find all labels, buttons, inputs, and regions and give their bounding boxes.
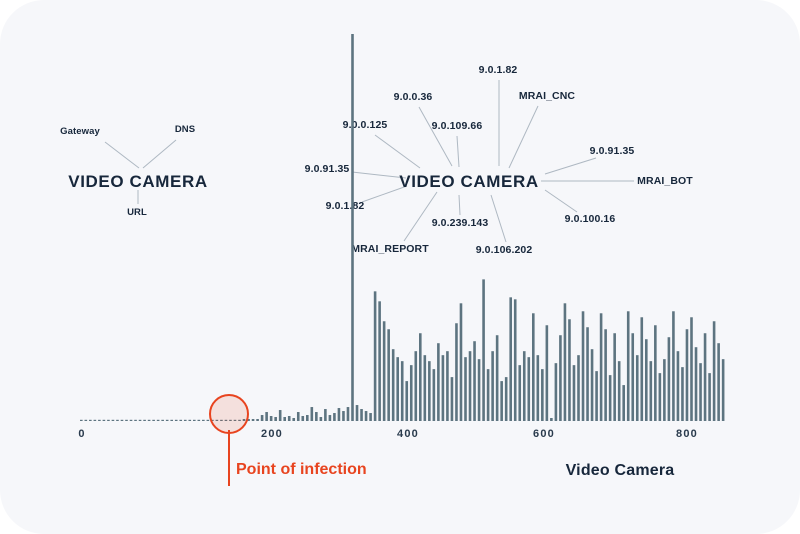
chart-bar xyxy=(374,291,377,421)
chart-bar xyxy=(369,413,372,421)
chart-bar xyxy=(306,415,309,421)
chart-bar xyxy=(329,415,332,421)
chart-bar xyxy=(631,333,634,421)
chart-bar xyxy=(130,420,133,421)
axis-tick-label: 200 xyxy=(261,428,283,440)
traffic-bar-chart xyxy=(0,0,800,534)
chart-bar xyxy=(668,337,671,421)
chart-bar xyxy=(428,361,431,421)
chart-bar xyxy=(509,297,512,421)
chart-bar xyxy=(94,420,97,421)
chart-bar xyxy=(564,303,567,421)
chart-bar xyxy=(414,351,417,421)
chart-bar xyxy=(469,351,472,421)
chart-bar xyxy=(311,407,314,421)
chart-bar xyxy=(333,413,336,421)
chart-bar xyxy=(139,420,142,421)
chart-bar xyxy=(392,349,395,421)
chart-bar xyxy=(107,420,110,421)
chart-bar xyxy=(387,329,390,421)
chart-bar xyxy=(654,325,657,421)
chart-bar xyxy=(261,415,264,421)
chart-bar xyxy=(179,420,182,421)
chart-bar xyxy=(717,343,720,421)
chart-bar xyxy=(640,317,643,421)
chart-bar xyxy=(419,333,422,421)
chart-bar xyxy=(198,420,201,421)
chart-bar xyxy=(152,420,155,421)
chart-bar xyxy=(270,416,273,421)
chart-bar xyxy=(586,327,589,421)
chart-bar xyxy=(591,349,594,421)
chart-bar xyxy=(175,420,178,421)
chart-bar xyxy=(157,420,160,421)
chart-bar xyxy=(704,333,707,421)
chart-bar xyxy=(283,417,286,421)
chart-bar xyxy=(455,323,458,421)
chart-bar xyxy=(338,408,341,421)
chart-bar xyxy=(690,317,693,421)
chart-bar xyxy=(297,412,300,421)
axis-tick-label: 600 xyxy=(533,428,555,440)
chart-bar xyxy=(559,335,562,421)
chart-bar xyxy=(609,375,612,421)
chart-bar xyxy=(320,417,323,421)
chart-bar xyxy=(645,339,648,421)
chart-bar xyxy=(686,329,689,421)
chart-bar xyxy=(713,321,716,421)
chart-bar xyxy=(699,363,702,421)
chart-bar xyxy=(383,321,386,421)
chart-bar xyxy=(487,369,490,421)
chart-bar xyxy=(315,412,318,421)
axis-tick-label: 0 xyxy=(78,428,85,440)
chart-bar xyxy=(207,420,210,421)
chart-bar xyxy=(659,373,662,421)
chart-bar xyxy=(681,367,684,421)
chart-bar xyxy=(252,419,255,421)
chart-bar xyxy=(695,347,698,421)
chart-bar xyxy=(446,351,449,421)
chart-bar xyxy=(405,381,408,421)
chart-bar xyxy=(437,343,440,421)
chart-bar xyxy=(161,420,164,421)
chart-bar xyxy=(170,420,173,421)
chart-bar xyxy=(595,371,598,421)
chart-bar xyxy=(347,407,350,421)
chart-bar xyxy=(148,420,151,421)
chart-caption: Video Camera xyxy=(566,462,675,480)
chart-bar xyxy=(202,420,205,421)
chart-bar xyxy=(396,357,399,421)
chart-bar xyxy=(279,410,282,421)
chart-bar xyxy=(604,329,607,421)
chart-bar xyxy=(410,365,413,421)
chart-bar xyxy=(573,365,576,421)
chart-bar xyxy=(464,357,467,421)
chart-bar xyxy=(166,420,169,421)
chart-bar xyxy=(527,357,530,421)
chart-bar xyxy=(356,405,359,421)
chart-bar xyxy=(98,420,101,421)
chart-bar xyxy=(193,420,196,421)
chart-bar xyxy=(473,341,476,421)
point-of-infection-label: Point of infection xyxy=(236,461,367,479)
chart-bar xyxy=(514,299,517,421)
chart-bar xyxy=(378,301,381,421)
point-of-infection-highlight-circle xyxy=(209,394,249,434)
chart-bar xyxy=(188,420,191,421)
chart-bar xyxy=(500,381,503,421)
chart-bar xyxy=(482,279,485,421)
chart-bar xyxy=(613,333,616,421)
chart-bar xyxy=(460,303,463,421)
chart-bar xyxy=(622,385,625,421)
chart-bar xyxy=(324,409,327,421)
chart-bar xyxy=(121,420,124,421)
axis-tick-label: 400 xyxy=(397,428,419,440)
chart-bar xyxy=(577,355,580,421)
chart-bar xyxy=(103,420,106,421)
chart-bar xyxy=(401,361,404,421)
chart-bar xyxy=(600,313,603,421)
chart-bar xyxy=(365,411,368,421)
chart-bar xyxy=(342,411,345,421)
chart-bar xyxy=(505,377,508,421)
chart-bar xyxy=(116,420,119,421)
chart-bar xyxy=(636,355,639,421)
chart-bar xyxy=(80,420,83,421)
chart-bar xyxy=(618,361,621,421)
chart-bar xyxy=(424,355,427,421)
chart-bar xyxy=(708,373,711,421)
chart-bar xyxy=(663,359,666,421)
chart-bar xyxy=(672,311,675,421)
chart-bar xyxy=(442,355,445,421)
chart-bar xyxy=(301,416,304,421)
chart-bar xyxy=(677,351,680,421)
chart-bar xyxy=(568,319,571,421)
chart-bar xyxy=(89,420,92,421)
chart-bar xyxy=(433,369,436,421)
chart-bar xyxy=(478,359,481,421)
chart-bar xyxy=(85,420,88,421)
chart-bar xyxy=(274,417,277,421)
chart-bar xyxy=(541,369,544,421)
chart-bar xyxy=(184,420,187,421)
infection-timeline-card: VIDEO CAMERA GatewayDNSURL VIDEO CAMERA … xyxy=(0,0,800,534)
chart-bar xyxy=(143,420,146,421)
chart-bar xyxy=(555,363,558,421)
chart-bar xyxy=(496,335,499,421)
chart-bar xyxy=(360,409,363,421)
chart-bar xyxy=(292,418,295,421)
chart-bar xyxy=(627,311,630,421)
axis-tick-label: 800 xyxy=(676,428,698,440)
chart-bar xyxy=(351,34,354,421)
chart-bar xyxy=(582,311,585,421)
chart-bar xyxy=(451,377,454,421)
point-of-infection-leader-line xyxy=(228,430,230,486)
chart-bar xyxy=(532,313,535,421)
chart-bar xyxy=(550,418,553,421)
chart-bar xyxy=(546,325,549,421)
chart-bar xyxy=(491,351,494,421)
chart-bar xyxy=(650,361,653,421)
chart-bar xyxy=(265,412,268,421)
chart-bar xyxy=(722,359,725,421)
chart-bar xyxy=(256,419,259,421)
chart-bar xyxy=(523,351,526,421)
chart-bar xyxy=(112,420,115,421)
chart-bar xyxy=(125,420,128,421)
chart-bar xyxy=(518,365,521,421)
chart-bar xyxy=(134,420,137,421)
chart-bar xyxy=(288,416,291,421)
chart-bar xyxy=(537,355,540,421)
